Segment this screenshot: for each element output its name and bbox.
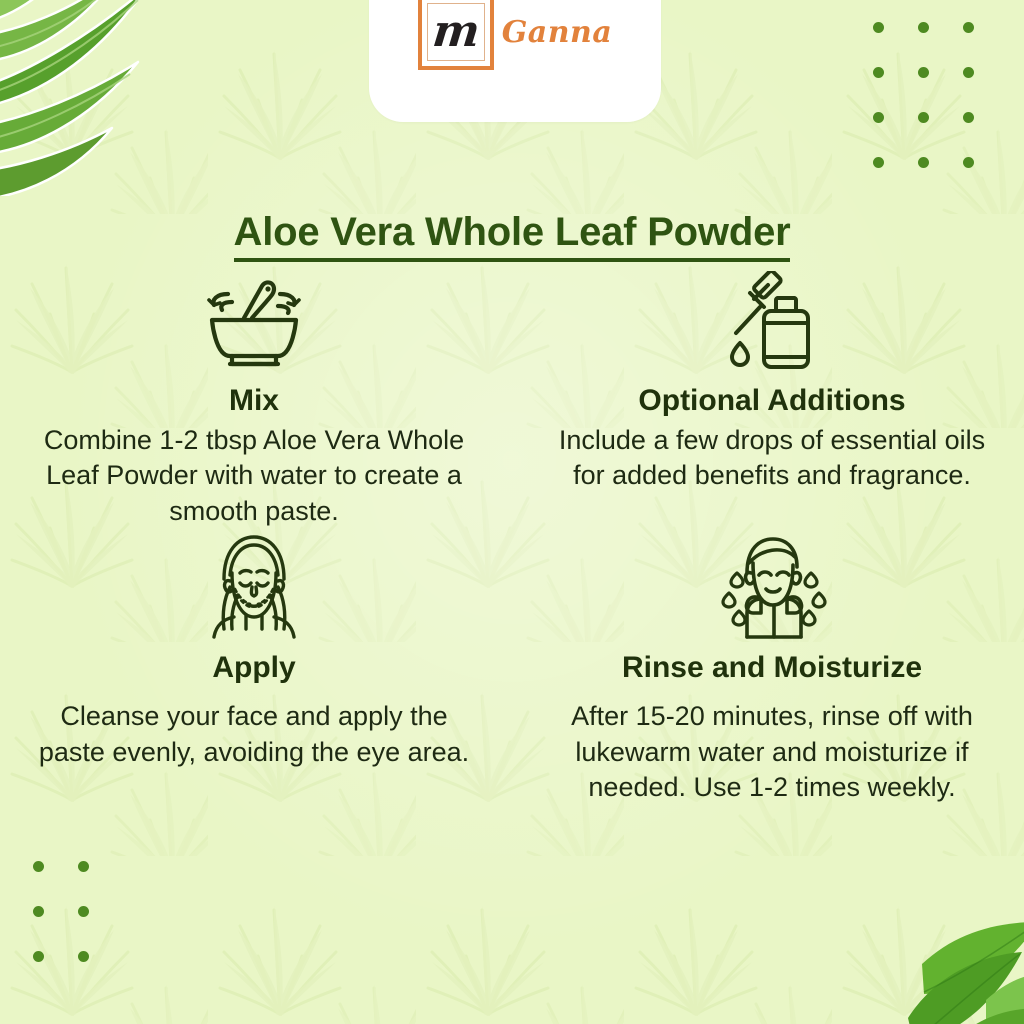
decorative-dot bbox=[918, 22, 929, 33]
decorative-dot bbox=[78, 861, 89, 872]
step-title: Apply bbox=[30, 651, 478, 686]
decorative-dot bbox=[78, 906, 89, 917]
decorative-dot bbox=[78, 951, 89, 962]
logo-brand-name: Ganna bbox=[502, 15, 613, 50]
decorative-dot bbox=[873, 112, 884, 123]
step-body: Cleanse your face and apply the paste ev… bbox=[34, 699, 474, 770]
poster-canvas: m Ganna Aloe Vera Whole Leaf Powder bbox=[0, 0, 1024, 1024]
page-title: Aloe Vera Whole Leaf Powder bbox=[0, 210, 1024, 254]
step-title: Mix bbox=[30, 384, 478, 419]
logo-monogram-frame: m bbox=[418, 0, 494, 70]
decorative-dot bbox=[918, 67, 929, 78]
dropper-bottle-icon bbox=[542, 268, 1002, 380]
decorative-dot bbox=[873, 157, 884, 168]
steps-grid: Mix Combine 1-2 tbsp Aloe Vera Whole Lea… bbox=[0, 268, 1024, 806]
decorative-dot bbox=[918, 112, 929, 123]
mortar-and-pestle-icon bbox=[30, 268, 478, 380]
logo[interactable]: m Ganna bbox=[418, 0, 613, 70]
leaves-icon bbox=[862, 868, 1024, 1024]
decorative-dot bbox=[963, 157, 974, 168]
step-card-apply: Apply Cleanse your face and apply the pa… bbox=[0, 529, 512, 805]
decorative-dot bbox=[873, 67, 884, 78]
step-card-mix: Mix Combine 1-2 tbsp Aloe Vera Whole Lea… bbox=[0, 268, 512, 529]
step-card-optional-additions: Optional Additions Include a few drops o… bbox=[512, 268, 1024, 529]
decorative-dot bbox=[918, 157, 929, 168]
step-title: Rinse and Moisturize bbox=[542, 651, 1002, 686]
logo-monogram-letter: m bbox=[431, 10, 480, 54]
step-body: Include a few drops of essential oils fo… bbox=[552, 423, 992, 494]
brand-header-panel: m Ganna bbox=[369, 0, 661, 122]
dot-grid-top-right bbox=[856, 22, 991, 202]
step-body: Combine 1-2 tbsp Aloe Vera Whole Leaf Po… bbox=[34, 423, 474, 530]
dot-grid-bottom-left bbox=[16, 861, 106, 996]
decorative-dot bbox=[963, 112, 974, 123]
step-card-rinse-and-moisturize: Rinse and Moisturize After 15-20 minutes… bbox=[512, 529, 1024, 805]
page-title-text: Aloe Vera Whole Leaf Powder bbox=[234, 210, 791, 262]
decorative-dot bbox=[963, 22, 974, 33]
step-body: After 15-20 minutes, rinse off with luke… bbox=[552, 699, 992, 806]
decorative-dot bbox=[33, 861, 44, 872]
decorative-dot bbox=[963, 67, 974, 78]
face-mask-apply-icon bbox=[30, 529, 478, 647]
decorative-dot bbox=[33, 906, 44, 917]
face-wash-rinse-icon bbox=[542, 529, 1002, 647]
aloe-leaves-icon bbox=[0, 0, 190, 196]
step-title: Optional Additions bbox=[542, 384, 1002, 419]
decorative-dot bbox=[33, 951, 44, 962]
decorative-dot bbox=[873, 22, 884, 33]
